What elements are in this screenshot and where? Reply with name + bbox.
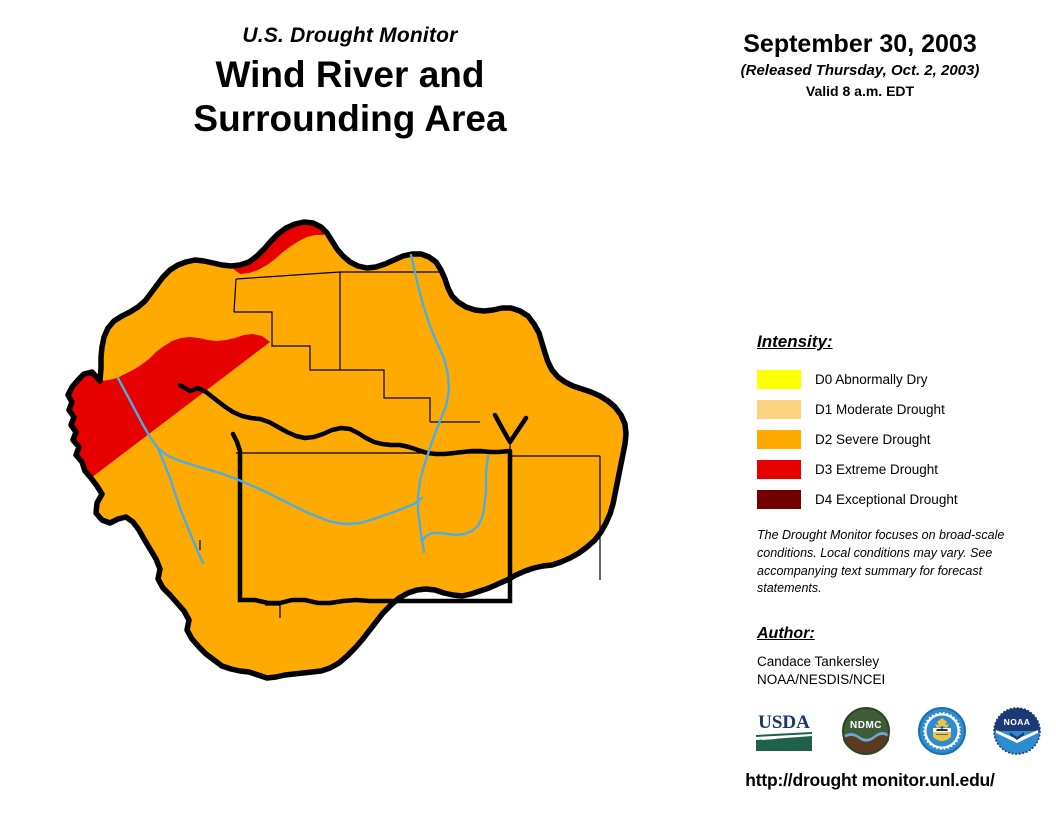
map-title-line-2: Surrounding Area bbox=[0, 97, 700, 141]
drought-map[interactable] bbox=[40, 160, 740, 760]
program-subtitle: U.S. Drought Monitor bbox=[0, 24, 700, 47]
legend-label-d2: D2 Severe Drought bbox=[815, 432, 931, 447]
legend-heading: Intensity: bbox=[757, 332, 1037, 352]
legend-swatch-d0 bbox=[757, 370, 801, 389]
valid-date: September 30, 2003 bbox=[690, 30, 1030, 59]
disclaimer-text: The Drought Monitor focuses on broad-sca… bbox=[757, 527, 1007, 598]
legend-swatch-d1 bbox=[757, 400, 801, 419]
author-block: Author: Candace Tankersley NOAA/NESDIS/N… bbox=[757, 625, 1017, 689]
legend-label-d1: D1 Moderate Drought bbox=[815, 402, 945, 417]
date-block: September 30, 2003 (Released Thursday, O… bbox=[690, 30, 1030, 99]
ndmc-logo-text: NDMC bbox=[850, 720, 882, 731]
legend-item-d4[interactable]: D4 Exceptional Drought bbox=[757, 484, 1037, 514]
legend-item-d2[interactable]: D2 Severe Drought bbox=[757, 424, 1037, 454]
release-date: (Released Thursday, Oct. 2, 2003) bbox=[690, 62, 1030, 79]
legend-item-d3[interactable]: D3 Extreme Drought bbox=[757, 454, 1037, 484]
author-name: Candace Tankersley bbox=[757, 653, 1017, 671]
logo-row: USDA NDMC NOAA bbox=[752, 702, 1042, 760]
usda-logo[interactable]: USDA bbox=[752, 707, 816, 755]
map-title-line-1: Wind River and bbox=[0, 53, 700, 97]
legend-item-d0[interactable]: D0 Abnormally Dry bbox=[757, 364, 1037, 394]
map-svg bbox=[40, 160, 740, 760]
website-url[interactable]: http://drought monitor.unl.edu/ bbox=[690, 770, 1050, 791]
author-heading: Author: bbox=[757, 625, 1017, 643]
usda-logo-text: USDA bbox=[758, 712, 810, 733]
map-title: Wind River and Surrounding Area bbox=[0, 53, 700, 140]
legend-swatch-d2 bbox=[757, 430, 801, 449]
author-affiliation: NOAA/NESDIS/NCEI bbox=[757, 671, 1017, 689]
legend: Intensity: D0 Abnormally Dry D1 Moderate… bbox=[757, 332, 1037, 514]
page-title: U.S. Drought Monitor Wind River and Surr… bbox=[0, 24, 700, 140]
commerce-seal-logo[interactable] bbox=[917, 706, 967, 756]
map-region-layer bbox=[40, 160, 740, 760]
legend-label-d0: D0 Abnormally Dry bbox=[815, 372, 928, 387]
noaa-logo[interactable]: NOAA bbox=[992, 706, 1042, 756]
valid-time: Valid 8 a.m. EDT bbox=[690, 83, 1030, 99]
ndmc-logo[interactable]: NDMC bbox=[841, 706, 891, 756]
legend-item-d1[interactable]: D1 Moderate Drought bbox=[757, 394, 1037, 424]
noaa-logo-text: NOAA bbox=[1004, 717, 1031, 727]
legend-swatch-d4 bbox=[757, 490, 801, 509]
legend-label-d3: D3 Extreme Drought bbox=[815, 462, 938, 477]
legend-swatch-d3 bbox=[757, 460, 801, 479]
legend-label-d4: D4 Exceptional Drought bbox=[815, 492, 958, 507]
